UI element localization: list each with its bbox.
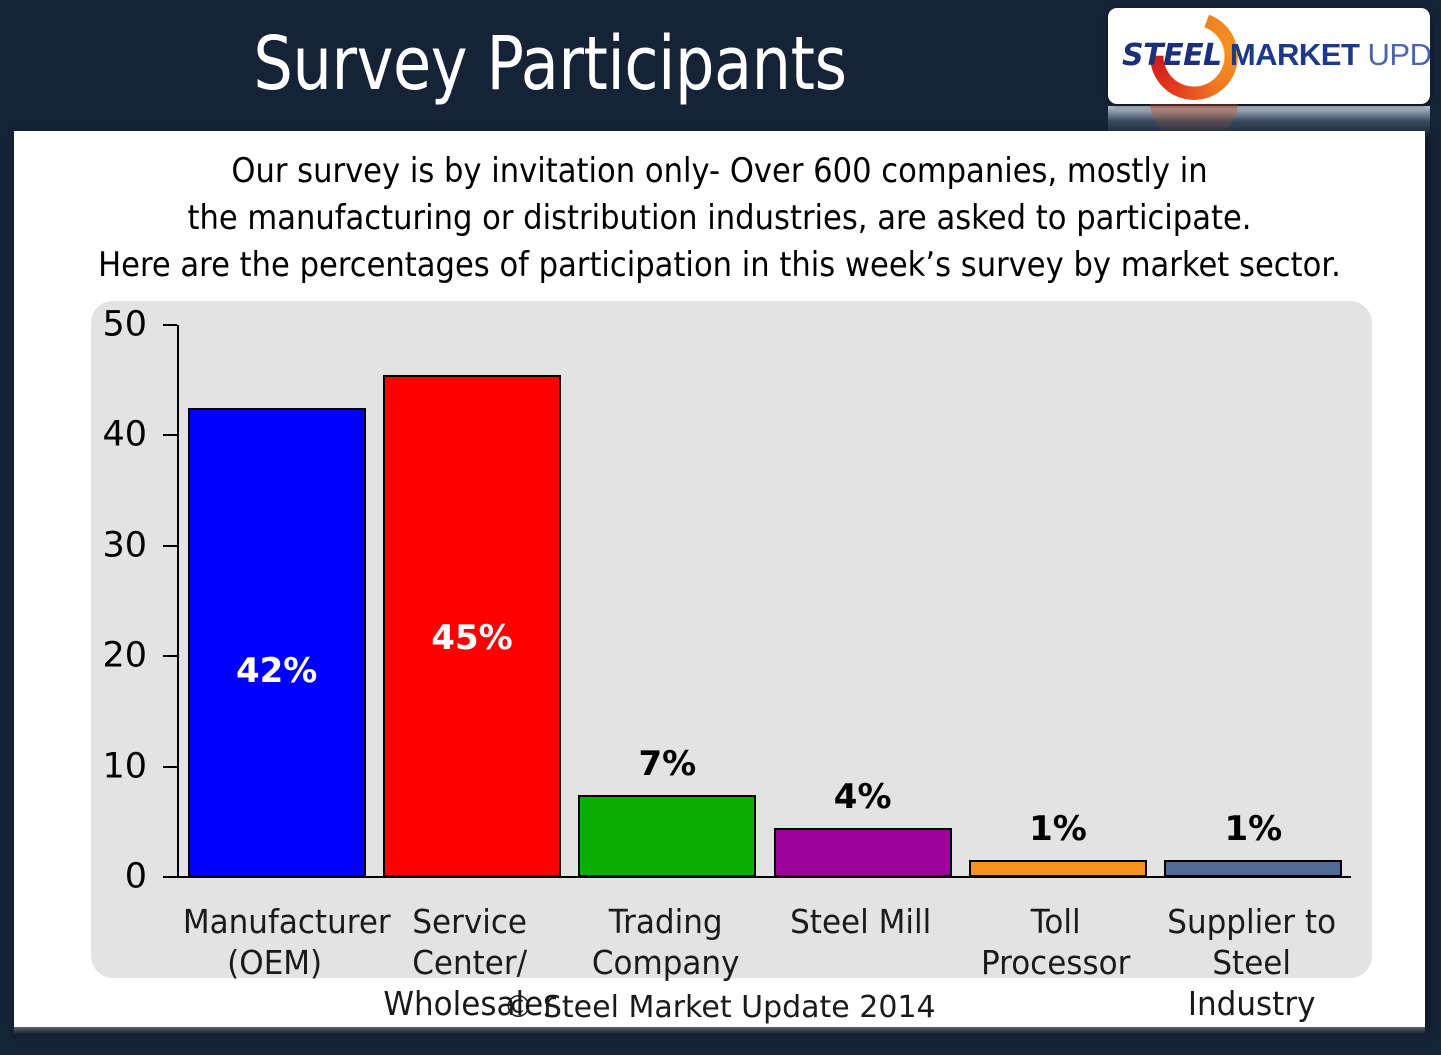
bar-group: 45%: [383, 325, 561, 877]
copyright-footer: © Steel Market Update 2014: [14, 991, 1425, 1025]
bar-value-label: 7%: [578, 747, 756, 781]
category-label-line: Company: [574, 942, 758, 983]
y-axis-tick: 20: [163, 655, 177, 657]
category-label-line: Service Center/: [378, 901, 562, 983]
bar-value-label: 4%: [774, 780, 952, 814]
logo-text-steel: STEEL: [1122, 38, 1222, 73]
chart-bars: 42%45%7%4%1%1%: [179, 325, 1351, 877]
logo-text-update: UPDATE: [1368, 37, 1430, 72]
bar[interactable]: [1164, 860, 1342, 877]
intro-text: Our survey is by invitation only- Over 6…: [85, 148, 1355, 289]
bar-group: 1%: [969, 325, 1147, 877]
y-axis-tick-label: 0: [125, 860, 147, 895]
category-label-line: Toll Processor: [964, 901, 1148, 983]
bar[interactable]: [969, 860, 1147, 877]
category-label: Toll Processor: [964, 901, 1148, 983]
bar[interactable]: [188, 408, 366, 877]
category-label-line: Trading: [574, 901, 758, 942]
category-label: Steel Mill: [769, 901, 953, 942]
category-label-line: (OEM): [183, 942, 367, 983]
y-axis-tick-label: 40: [102, 418, 147, 453]
page-title: Survey Participants: [88, 14, 1012, 114]
bar-group: 4%: [774, 325, 952, 877]
bar-value-label: 42%: [188, 654, 366, 688]
y-axis-tick: 10: [163, 766, 177, 768]
chart-plot-area: 01020304050 42%45%7%4%1%1% Manufacturer(…: [177, 325, 1351, 877]
bar-chart: 01020304050 42%45%7%4%1%1% Manufacturer(…: [91, 301, 1372, 978]
category-label: TradingCompany: [574, 901, 758, 983]
category-label-line: Supplier to: [1160, 901, 1344, 942]
y-axis-tick-label: 10: [102, 749, 147, 784]
slide: Survey Participants STEEL MARKET UPDATE …: [0, 0, 1441, 1055]
y-axis-tick: 40: [163, 434, 177, 436]
category-label: Manufacturer(OEM): [183, 901, 367, 983]
bar-value-label: 1%: [969, 812, 1147, 846]
y-axis-tick: 50: [163, 324, 177, 326]
y-axis-tick: 30: [163, 545, 177, 547]
steel-market-update-logo: STEEL MARKET UPDATE: [1108, 8, 1430, 104]
intro-line-1: Our survey is by invitation only- Over 6…: [85, 148, 1355, 195]
category-label-line: Manufacturer: [183, 901, 367, 942]
bar[interactable]: [774, 828, 952, 877]
y-axis-tick-label: 50: [102, 308, 147, 343]
intro-line-3: Here are the percentages of participatio…: [85, 242, 1355, 289]
bar-value-label: 45%: [383, 621, 561, 655]
y-axis-tick: 0: [163, 876, 177, 878]
bar-group: 42%: [188, 325, 366, 877]
y-axis-tick-label: 20: [102, 639, 147, 674]
intro-line-2: the manufacturing or distribution indust…: [85, 195, 1355, 242]
slide-body: Our survey is by invitation only- Over 6…: [14, 131, 1425, 1027]
bar[interactable]: [578, 795, 756, 877]
category-label-line: Steel Mill: [769, 901, 953, 942]
y-axis-tick-label: 30: [102, 528, 147, 563]
bar-group: 7%: [578, 325, 756, 877]
bar-value-label: 1%: [1164, 812, 1342, 846]
bar-group: 1%: [1164, 325, 1342, 877]
logo-text-market: MARKET: [1230, 37, 1360, 72]
